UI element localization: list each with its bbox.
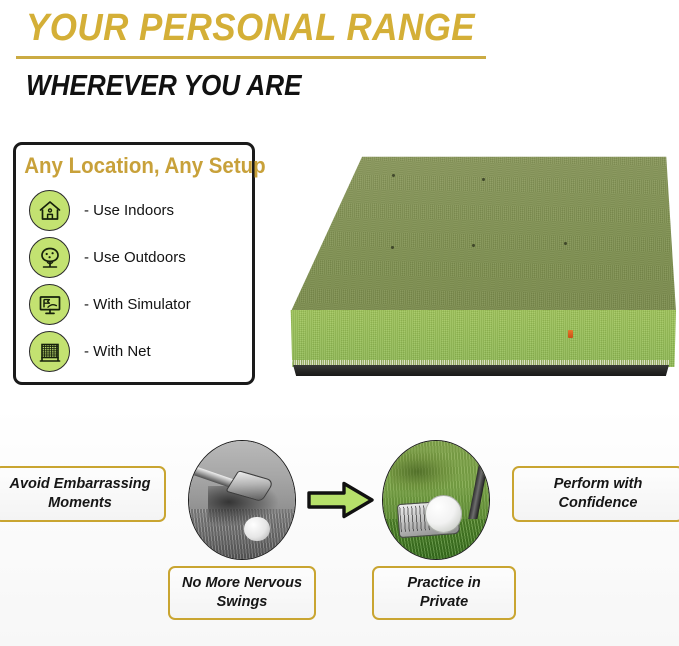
feature-item-use-indoors: - Use Indoors (16, 187, 252, 234)
page-subtitle: WHEREVER YOU ARE (26, 68, 302, 104)
benefits-section: Avoid Embarrassing Moments Perform with … (0, 408, 679, 646)
simulator-screen-icon (29, 284, 70, 325)
callout-avoid-embarrassing-moments: Avoid Embarrassing Moments (0, 466, 166, 522)
feature-item-use-outdoors: - Use Outdoors (16, 234, 252, 281)
photo-golf-ball (425, 495, 462, 532)
product-image-golf-mat (286, 152, 676, 390)
callout-no-more-nervous-swings: No More Nervous Swings (168, 566, 316, 620)
house-icon (29, 190, 70, 231)
tree-icon (29, 237, 70, 278)
header-section: YOUR PERSONAL RANGE WHEREVER YOU ARE (0, 0, 679, 120)
transition-arrow-icon (306, 480, 376, 520)
callout-perform-with-confidence: Perform with Confidence (512, 466, 679, 522)
photo-golf-ball (244, 517, 269, 542)
net-icon (29, 331, 70, 372)
feature-label: - Use Outdoors (84, 249, 186, 266)
feature-box: Any Location, Any Setup - Use Indoors (13, 142, 255, 385)
mat-rubber-base-edge (290, 365, 672, 376)
feature-item-with-simulator: - With Simulator (16, 281, 252, 328)
page-title: YOUR PERSONAL RANGE (26, 5, 475, 51)
feature-box-title: Any Location, Any Setup (24, 153, 243, 179)
mat-fairway-turf-surface (286, 152, 676, 312)
feature-list: - Use Indoors - Use Outdoors (16, 187, 252, 375)
title-underline-divider (16, 56, 486, 59)
feature-label: - With Net (84, 343, 151, 360)
callout-practice-in-private: Practice in Private (372, 566, 516, 620)
feature-label: - With Simulator (84, 296, 191, 313)
feature-item-with-net: - With Net (16, 328, 252, 375)
after-photo-color-swing (382, 440, 490, 560)
orange-tee-marker (568, 330, 573, 338)
photo-turf-spray (391, 450, 457, 492)
feature-label: - Use Indoors (84, 202, 174, 219)
before-photo-grayscale-swing (188, 440, 296, 560)
